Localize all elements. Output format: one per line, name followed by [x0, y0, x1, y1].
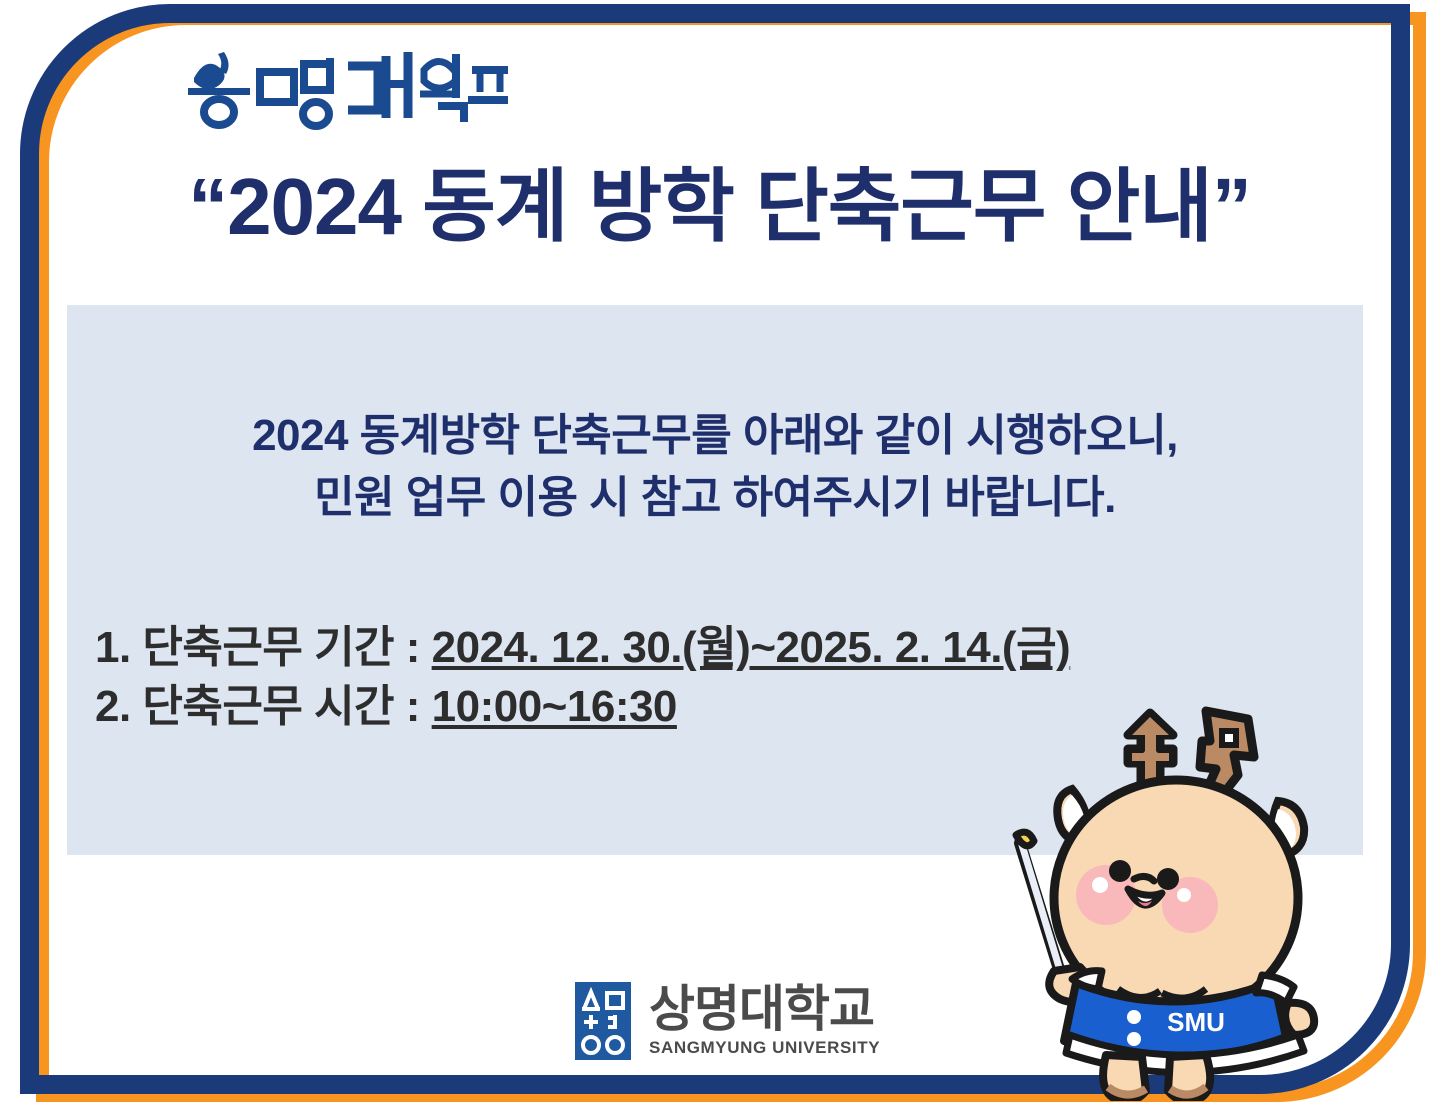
- footer-university-logo: 상명대학교 SANGMYUNG UNIVERSITY: [575, 982, 880, 1060]
- list-item-label: 1. 단축근무 기간 :: [95, 623, 432, 672]
- poster-content: “2024 동계 방학 단축근무 안내” 2024 동계방학 단축근무를 아래와…: [0, 0, 1439, 1111]
- list-item-value: 2024. 12. 30.(월)~2025. 2. 14.(금): [432, 623, 1071, 672]
- list-item-label: 2. 단축근무 시간 :: [95, 682, 432, 731]
- university-emblem-icon: [575, 982, 631, 1060]
- notice-paragraph-line-2: 민원 업무 이용 시 참고 하여주시기 바랍니다.: [67, 467, 1363, 529]
- mascot-shirt-label: SMU: [1167, 1007, 1225, 1037]
- university-mascot-illustration: SMU: [1010, 683, 1340, 1101]
- university-wordmark: 상명대학교 SANGMYUNG UNIVERSITY: [649, 984, 880, 1058]
- list-item: 1. 단축근무 기간 : 2024. 12. 30.(월)~2025. 2. 1…: [95, 618, 1345, 677]
- university-wordmark-korean: 상명대학교: [649, 984, 880, 1034]
- university-wordmark-english: SANGMYUNG UNIVERSITY: [649, 1038, 880, 1058]
- handwritten-university-logo: [180, 48, 510, 130]
- notice-paragraph-line-1: 2024 동계방학 단축근무를 아래와 같이 시행하오니,: [67, 405, 1363, 467]
- poster-root: “2024 동계 방학 단축근무 안내” 2024 동계방학 단축근무를 아래와…: [0, 0, 1439, 1111]
- poster-title: “2024 동계 방학 단축근무 안내”: [0, 142, 1439, 258]
- notice-paragraph: 2024 동계방학 단축근무를 아래와 같이 시행하오니, 민원 업무 이용 시…: [67, 405, 1363, 530]
- list-item-value: 10:00~16:30: [432, 682, 677, 731]
